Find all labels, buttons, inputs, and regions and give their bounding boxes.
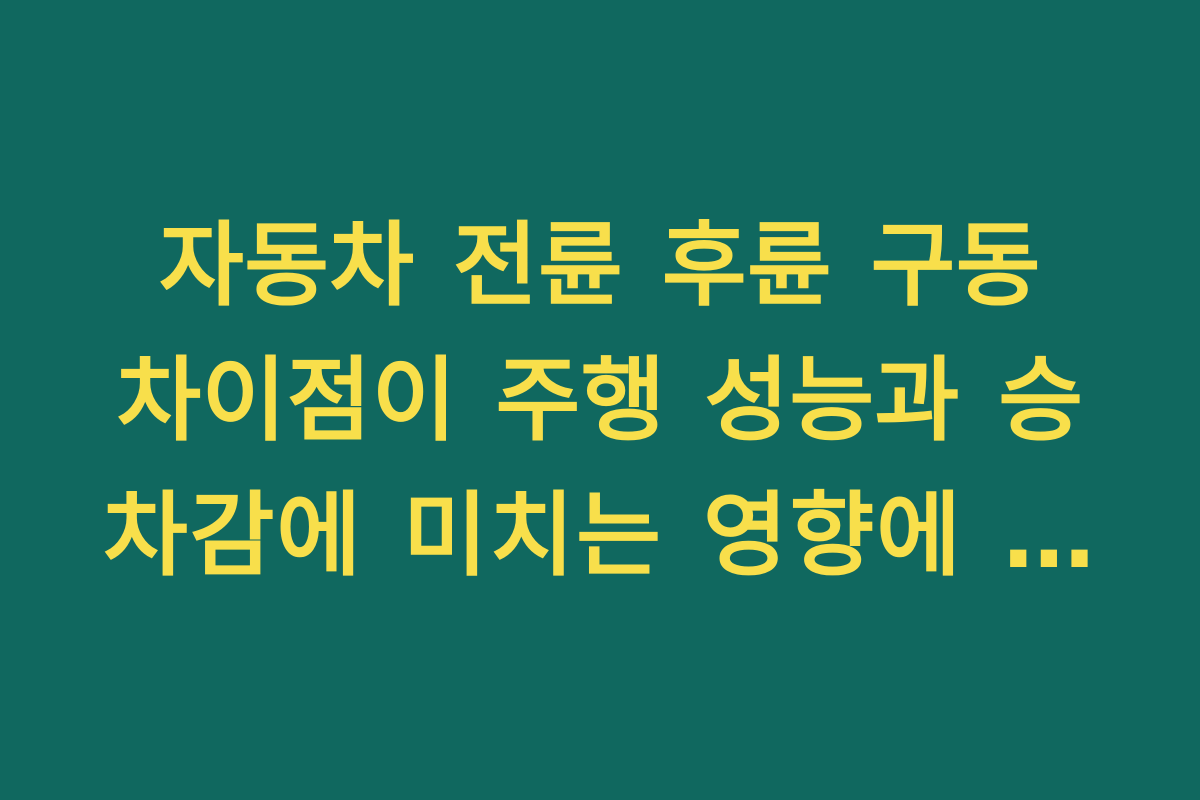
- text-card: 자동차 전륜 후륜 구동 차이점이 주행 성능과 승 차감에 미치는 영향에 …: [0, 0, 1200, 800]
- headline-line-2: 차이점이 주행 성능과 승: [80, 333, 1120, 468]
- headline-line-1: 자동차 전륜 후륜 구동: [80, 198, 1120, 333]
- headline-line-3: 차감에 미치는 영향에 …: [80, 468, 1120, 603]
- page-title: 자동차 전륜 후륜 구동 차이점이 주행 성능과 승 차감에 미치는 영향에 …: [80, 198, 1120, 603]
